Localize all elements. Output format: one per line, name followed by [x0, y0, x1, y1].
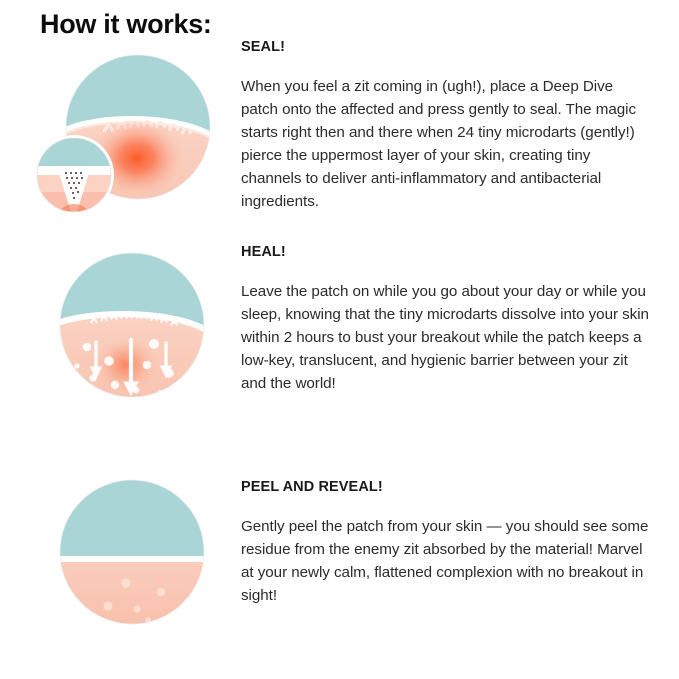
seal-text-block: SEAL! When you feel a zit coming in (ugh… [241, 40, 651, 214]
peel-and-reveal-text-block: PEEL AND REVEAL! Gently peel the patch f… [241, 480, 651, 607]
step-peel-and-reveal: PEEL AND REVEAL! Gently peel the patch f… [0, 470, 679, 645]
how-it-works-page: How it works: [0, 0, 679, 679]
heal-main-circle [33, 245, 233, 420]
seal-illustration [33, 40, 233, 235]
step-heal: HEAL! Leave the patch on while you go ab… [0, 245, 679, 435]
heal-body: Leave the patch on while you go about yo… [241, 280, 651, 395]
peel-main-circle [33, 470, 233, 645]
heal-text-block: HEAL! Leave the patch on while you go ab… [241, 245, 651, 395]
peel-and-reveal-illustration [33, 470, 233, 645]
heal-heading: HEAL! [241, 245, 651, 261]
heal-illustration [33, 245, 233, 420]
peel-and-reveal-heading: PEEL AND REVEAL! [241, 480, 651, 496]
seal-heading: SEAL! [241, 40, 651, 56]
page-title: How it works: [40, 8, 212, 40]
peel-and-reveal-body: Gently peel the patch from your skin — y… [241, 515, 651, 607]
step-seal: SEAL! When you feel a zit coming in (ugh… [0, 40, 679, 235]
seal-body: When you feel a zit coming in (ugh!), pl… [241, 75, 651, 214]
